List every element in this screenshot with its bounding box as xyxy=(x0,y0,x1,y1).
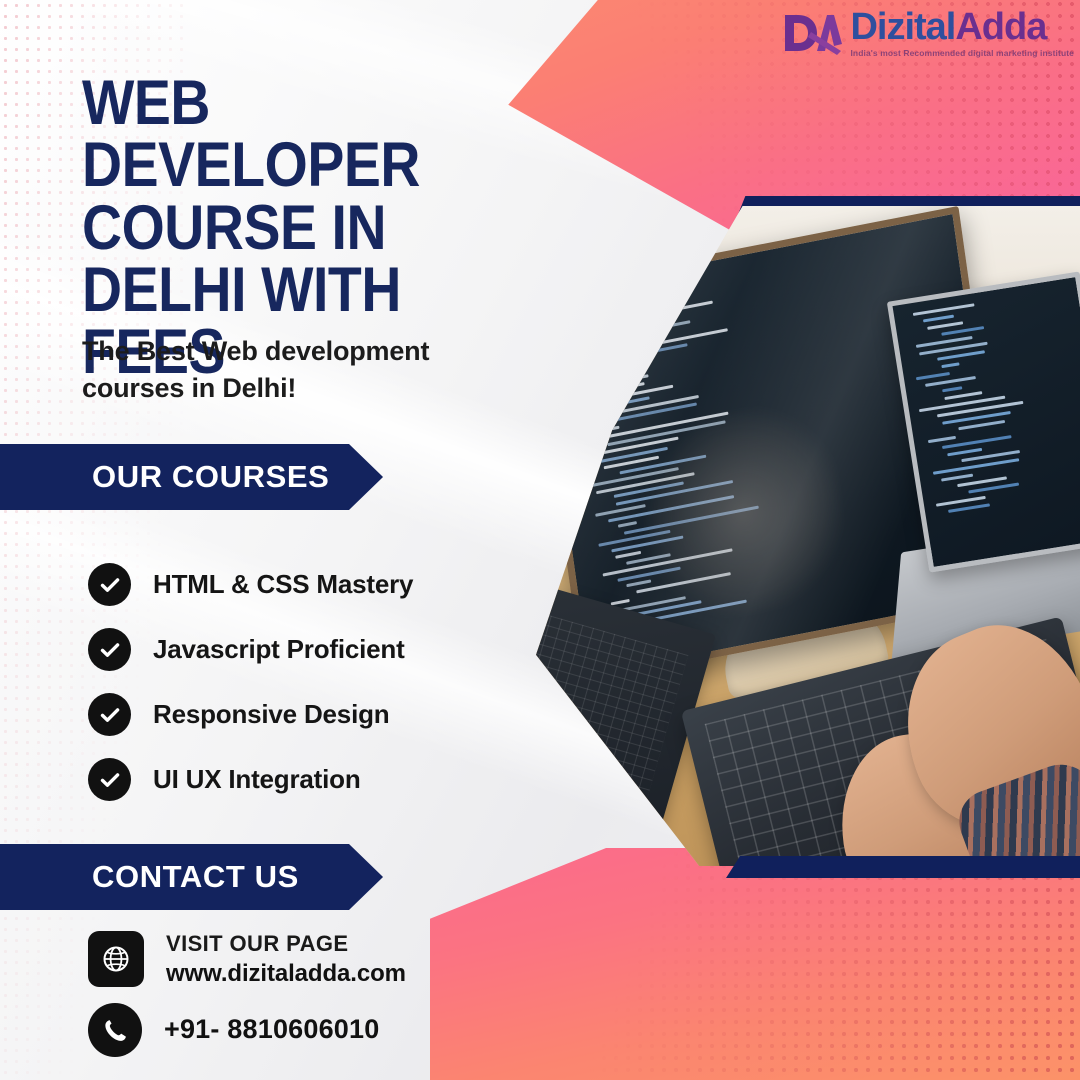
brand-name-part-2: Adda xyxy=(955,6,1046,48)
website-row[interactable]: VISIT OUR PAGE www.dizitaladda.com xyxy=(88,930,518,989)
da-monogram-icon xyxy=(781,10,843,61)
our-courses-label: OUR COURSES xyxy=(92,459,329,495)
brand-logo[interactable]: DizitalAdda India's most Recommended dig… xyxy=(781,8,1074,61)
website-title: VISIT OUR PAGE xyxy=(166,930,406,958)
poster-canvas: DizitalAdda India's most Recommended dig… xyxy=(0,0,1080,1080)
contact-us-banner: CONTACT US xyxy=(0,844,383,910)
check-circle-icon xyxy=(88,758,131,801)
page-subtitle: The Best Web development courses in Delh… xyxy=(82,333,482,406)
course-label: HTML & CSS Mastery xyxy=(153,569,413,600)
phone-icon xyxy=(88,1003,142,1057)
course-list: HTML & CSS Mastery Javascript Proficient… xyxy=(88,552,508,812)
list-item: UI UX Integration xyxy=(88,747,508,812)
course-label: Javascript Proficient xyxy=(153,634,405,665)
brand-wordmark: DizitalAdda India's most Recommended dig… xyxy=(850,8,1074,58)
brand-name-part-1: Dizital xyxy=(850,6,955,48)
contact-us-label: CONTACT US xyxy=(92,859,299,895)
phone-row[interactable]: +91- 8810606010 xyxy=(88,1003,518,1057)
course-label: UI UX Integration xyxy=(153,764,361,795)
bottom-right-gradient-wedge xyxy=(430,848,1080,1080)
phone-number[interactable]: +91- 8810606010 xyxy=(164,1014,379,1045)
list-item: Javascript Proficient xyxy=(88,617,508,682)
globe-icon xyxy=(88,931,144,987)
course-label: Responsive Design xyxy=(153,699,389,730)
check-circle-icon xyxy=(88,693,131,736)
brand-name: DizitalAdda xyxy=(850,8,1074,46)
list-item: HTML & CSS Mastery xyxy=(88,552,508,617)
check-circle-icon xyxy=(88,563,131,606)
brand-tagline: India's most Recommended digital marketi… xyxy=(850,48,1074,58)
website-text: VISIT OUR PAGE www.dizitaladda.com xyxy=(166,930,406,989)
website-url[interactable]: www.dizitaladda.com xyxy=(166,958,406,989)
our-courses-banner: OUR COURSES xyxy=(0,444,383,510)
check-circle-icon xyxy=(88,628,131,671)
list-item: Responsive Design xyxy=(88,682,508,747)
navy-accent-stripe-bottom xyxy=(726,856,1080,878)
contact-details: VISIT OUR PAGE www.dizitaladda.com +91- … xyxy=(88,930,518,1071)
